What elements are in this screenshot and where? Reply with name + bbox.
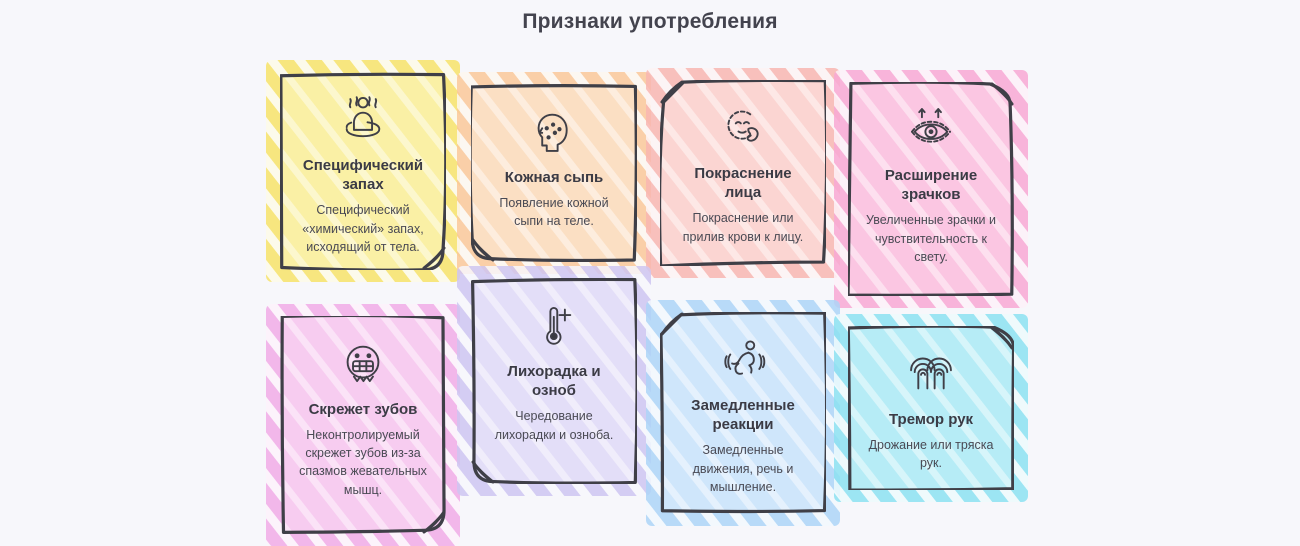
card-title: Замедленные реакции bbox=[676, 396, 810, 434]
card-description: Чередование лихорадки и озноба. bbox=[487, 407, 621, 443]
card-title: Скрежет зубов bbox=[309, 400, 418, 419]
card-description: Неконтролируемый скрежет зубов из-за спа… bbox=[296, 426, 430, 499]
card-specific-smell[interactable]: Специфический запахСпецифический «химиче… bbox=[280, 72, 446, 270]
card-content: Специфический запахСпецифический «химиче… bbox=[280, 72, 446, 270]
card-title: Лихорадка и озноб bbox=[487, 362, 621, 400]
card-content: Лихорадка и ознобЧередование лихорадки и… bbox=[471, 278, 637, 484]
cards-board: Специфический запахСпецифический «химиче… bbox=[0, 0, 1300, 546]
slow-runner-icon bbox=[712, 328, 774, 390]
card-teeth-grinding[interactable]: Скрежет зубовНеконтролируемый скрежет зу… bbox=[280, 316, 446, 534]
card-hand-tremor[interactable]: Тремор рукДрожание или тряска рук. bbox=[848, 326, 1014, 490]
card-fever-chills[interactable]: Лихорадка и ознобЧередование лихорадки и… bbox=[471, 278, 637, 484]
body-odor-icon bbox=[332, 88, 394, 150]
card-content: Расширение зрачковУвеличенные зрачки и ч… bbox=[848, 82, 1014, 296]
card-content: Кожная сыпьПоявление кожной сыпи на теле… bbox=[471, 84, 637, 262]
card-content: Скрежет зубовНеконтролируемый скрежет зу… bbox=[280, 316, 446, 534]
card-description: Замедленные движения, речь и мышление. bbox=[676, 441, 810, 495]
card-description: Появление кожной сыпи на теле. bbox=[487, 194, 621, 230]
card-content: Тремор рукДрожание или тряска рук. bbox=[848, 326, 1014, 490]
card-description: Дрожание или тряска рук. bbox=[864, 436, 998, 472]
card-description: Увеличенные зрачки и чувствительность к … bbox=[864, 211, 998, 265]
card-slow-reactions[interactable]: Замедленные реакцииЗамедленные движения,… bbox=[660, 312, 826, 514]
card-title: Покраснение лица bbox=[676, 164, 810, 202]
grinding-teeth-icon bbox=[332, 332, 394, 394]
trembling-hands-icon bbox=[900, 342, 962, 404]
card-content: Покраснение лицаПокраснение или прилив к… bbox=[660, 80, 826, 266]
card-title: Тремор рук bbox=[889, 410, 973, 429]
flushed-face-icon bbox=[712, 96, 774, 158]
card-content: Замедленные реакцииЗамедленные движения,… bbox=[660, 312, 826, 514]
thermometer-icon bbox=[523, 294, 585, 356]
card-description: Специфический «химический» запах, исходя… bbox=[296, 201, 430, 255]
card-dilated-pupils[interactable]: Расширение зрачковУвеличенные зрачки и ч… bbox=[848, 82, 1014, 296]
face-rash-icon bbox=[523, 100, 585, 162]
card-skin-rash[interactable]: Кожная сыпьПоявление кожной сыпи на теле… bbox=[471, 84, 637, 262]
card-title: Расширение зрачков bbox=[864, 166, 998, 204]
card-description: Покраснение или прилив крови к лицу. bbox=[676, 209, 810, 245]
card-title: Специфический запах bbox=[296, 156, 430, 194]
card-facial-flushing[interactable]: Покраснение лицаПокраснение или прилив к… bbox=[660, 80, 826, 266]
card-title: Кожная сыпь bbox=[505, 168, 604, 187]
dilated-eye-icon bbox=[900, 98, 962, 160]
